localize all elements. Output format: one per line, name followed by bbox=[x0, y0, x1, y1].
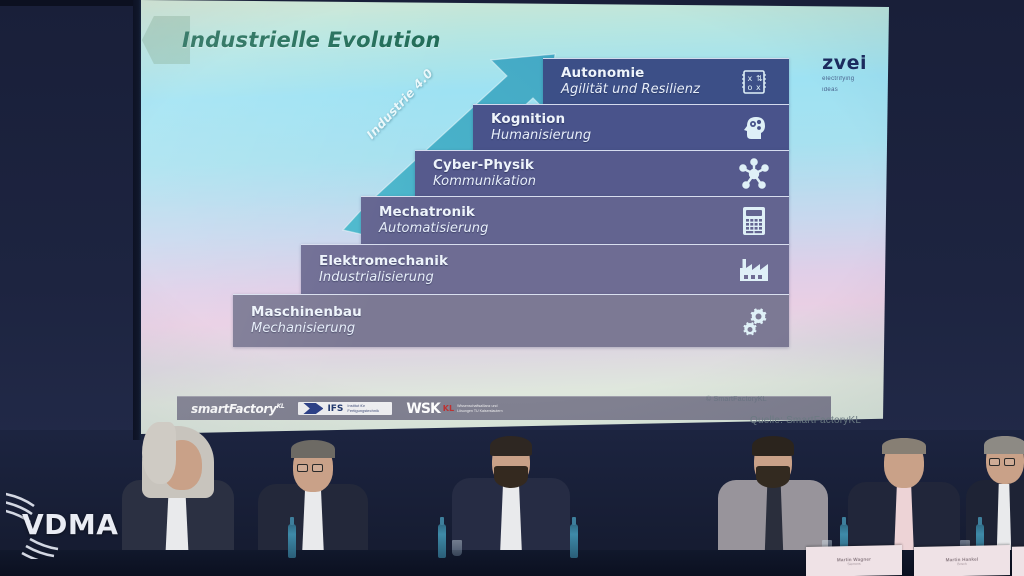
water-bottle bbox=[288, 524, 296, 558]
water-bottle bbox=[438, 524, 446, 558]
panelist-3-hair bbox=[490, 436, 532, 456]
projected-slide: Industrielle Evolution zvei electrifying… bbox=[141, 0, 889, 434]
stage-title: Cyber-Physik bbox=[433, 158, 727, 173]
gears-icon bbox=[727, 306, 781, 336]
stage-bar-autonomie: Autonomie Agilität und Resilienz x o ⇅ x bbox=[543, 58, 789, 105]
panelist-3-beard bbox=[494, 466, 528, 488]
panelist-2-hair bbox=[291, 440, 335, 458]
stage-subtitle: Agilität und Resilienz bbox=[561, 83, 727, 98]
wsk-logo: WSK KL Wissenschaftsallianz und Lösungen… bbox=[406, 401, 503, 417]
panelist-6-hair bbox=[984, 436, 1024, 454]
name-placard: Martin Wagner Siemens bbox=[806, 545, 902, 576]
ifs-mark-icon bbox=[303, 403, 323, 414]
stage-bar-text: Elektromechanik Industrialisierung bbox=[301, 254, 727, 286]
ifs-logo: IFS Institut für Fertigungstechnik bbox=[298, 402, 392, 415]
screen-frame-left bbox=[133, 0, 142, 440]
water-bottle bbox=[570, 524, 578, 558]
stage-title: Kognition bbox=[491, 112, 727, 127]
stage-bar-kognition: Kognition Humanisierung bbox=[473, 104, 789, 151]
stage-title: Autonomie bbox=[561, 66, 727, 81]
panelist-5-hair bbox=[882, 438, 926, 454]
calculator-icon bbox=[727, 206, 781, 236]
stage-title: Maschinenbau bbox=[251, 305, 727, 320]
factory-icon bbox=[727, 257, 781, 283]
stage-title: Elektromechanik bbox=[319, 254, 727, 269]
wsk-superscript: KL bbox=[443, 404, 454, 413]
ifs-subtitle: Institut für Fertigungstechnik bbox=[347, 404, 387, 413]
svg-text:x: x bbox=[756, 83, 761, 92]
conference-scene: Industrielle Evolution zvei electrifying… bbox=[0, 0, 1024, 576]
stage-subtitle: Automatisierung bbox=[379, 222, 727, 237]
wsk-subtitle: Wissenschaftsallianz und Lösungen TU Kai… bbox=[457, 404, 503, 412]
panelist-4-beard bbox=[756, 466, 790, 488]
stage-bar-text: Autonomie Agilität und Resilienz bbox=[543, 66, 727, 98]
network-hub-icon bbox=[727, 158, 781, 190]
placard-org: Siemens bbox=[847, 561, 860, 565]
panelist-6-glasses-icon bbox=[986, 458, 1024, 462]
ai-chip-strategy-icon: x o ⇅ x bbox=[727, 67, 781, 97]
panelist-1-hair-front bbox=[142, 422, 176, 484]
stage-subtitle: Mechanisierung bbox=[251, 322, 727, 337]
wsk-wordmark: WSK bbox=[406, 401, 439, 417]
stage-subtitle: Kommunikation bbox=[433, 175, 727, 190]
stage-bar-cyber-physik: Cyber-Physik Kommunikation bbox=[415, 150, 789, 197]
smartfactory-wordmark: smartFactory bbox=[191, 402, 277, 416]
stage-bar-text: Mechatronik Automatisierung bbox=[361, 205, 727, 237]
stage-bar-text: Cyber-Physik Kommunikation bbox=[415, 158, 727, 190]
stage-bar-mechatronik: Mechatronik Automatisierung bbox=[361, 196, 789, 245]
slide-copyright: © SmartFactoryKL bbox=[706, 396, 767, 403]
vdma-logo: VDMA bbox=[6, 489, 126, 559]
stage-bar-elektromechanik: Elektromechanik Industrialisierung bbox=[301, 244, 789, 295]
vdma-wordmark: VDMA bbox=[22, 508, 118, 541]
stage-bar-text: Maschinenbau Mechanisierung bbox=[233, 305, 727, 337]
svg-text:o: o bbox=[748, 83, 753, 92]
svg-text:⇅: ⇅ bbox=[756, 74, 763, 83]
drinking-glass bbox=[452, 540, 462, 556]
name-placard: Martin Hankel Bosch bbox=[914, 545, 1010, 576]
evolution-stairs: Autonomie Agilität und Resilienz x o ⇅ x bbox=[141, 0, 889, 400]
svg-text:x: x bbox=[748, 74, 753, 83]
placard-org: Bosch bbox=[957, 561, 966, 565]
stage-bar-text: Kognition Humanisierung bbox=[473, 112, 727, 144]
name-placard bbox=[1012, 545, 1024, 576]
stage-title: Mechatronik bbox=[379, 205, 727, 220]
stage-subtitle: Humanisierung bbox=[491, 129, 727, 144]
smartfactory-logo: smartFactoryKL bbox=[191, 402, 284, 416]
panelists-row: Martin Wagner Siemens Martin Hankel Bosc… bbox=[0, 418, 1024, 576]
ifs-wordmark: IFS bbox=[327, 404, 343, 414]
head-cognition-icon bbox=[727, 113, 781, 143]
smartfactory-superscript: KL bbox=[277, 403, 285, 410]
screen-frame-top bbox=[0, 0, 141, 6]
panelist-4-hair bbox=[752, 436, 794, 456]
stage-subtitle: Industrialisierung bbox=[319, 271, 727, 286]
panelist-2-glasses-icon bbox=[293, 464, 333, 468]
stage-bar-maschinenbau: Maschinenbau Mechanisierung bbox=[233, 294, 789, 347]
